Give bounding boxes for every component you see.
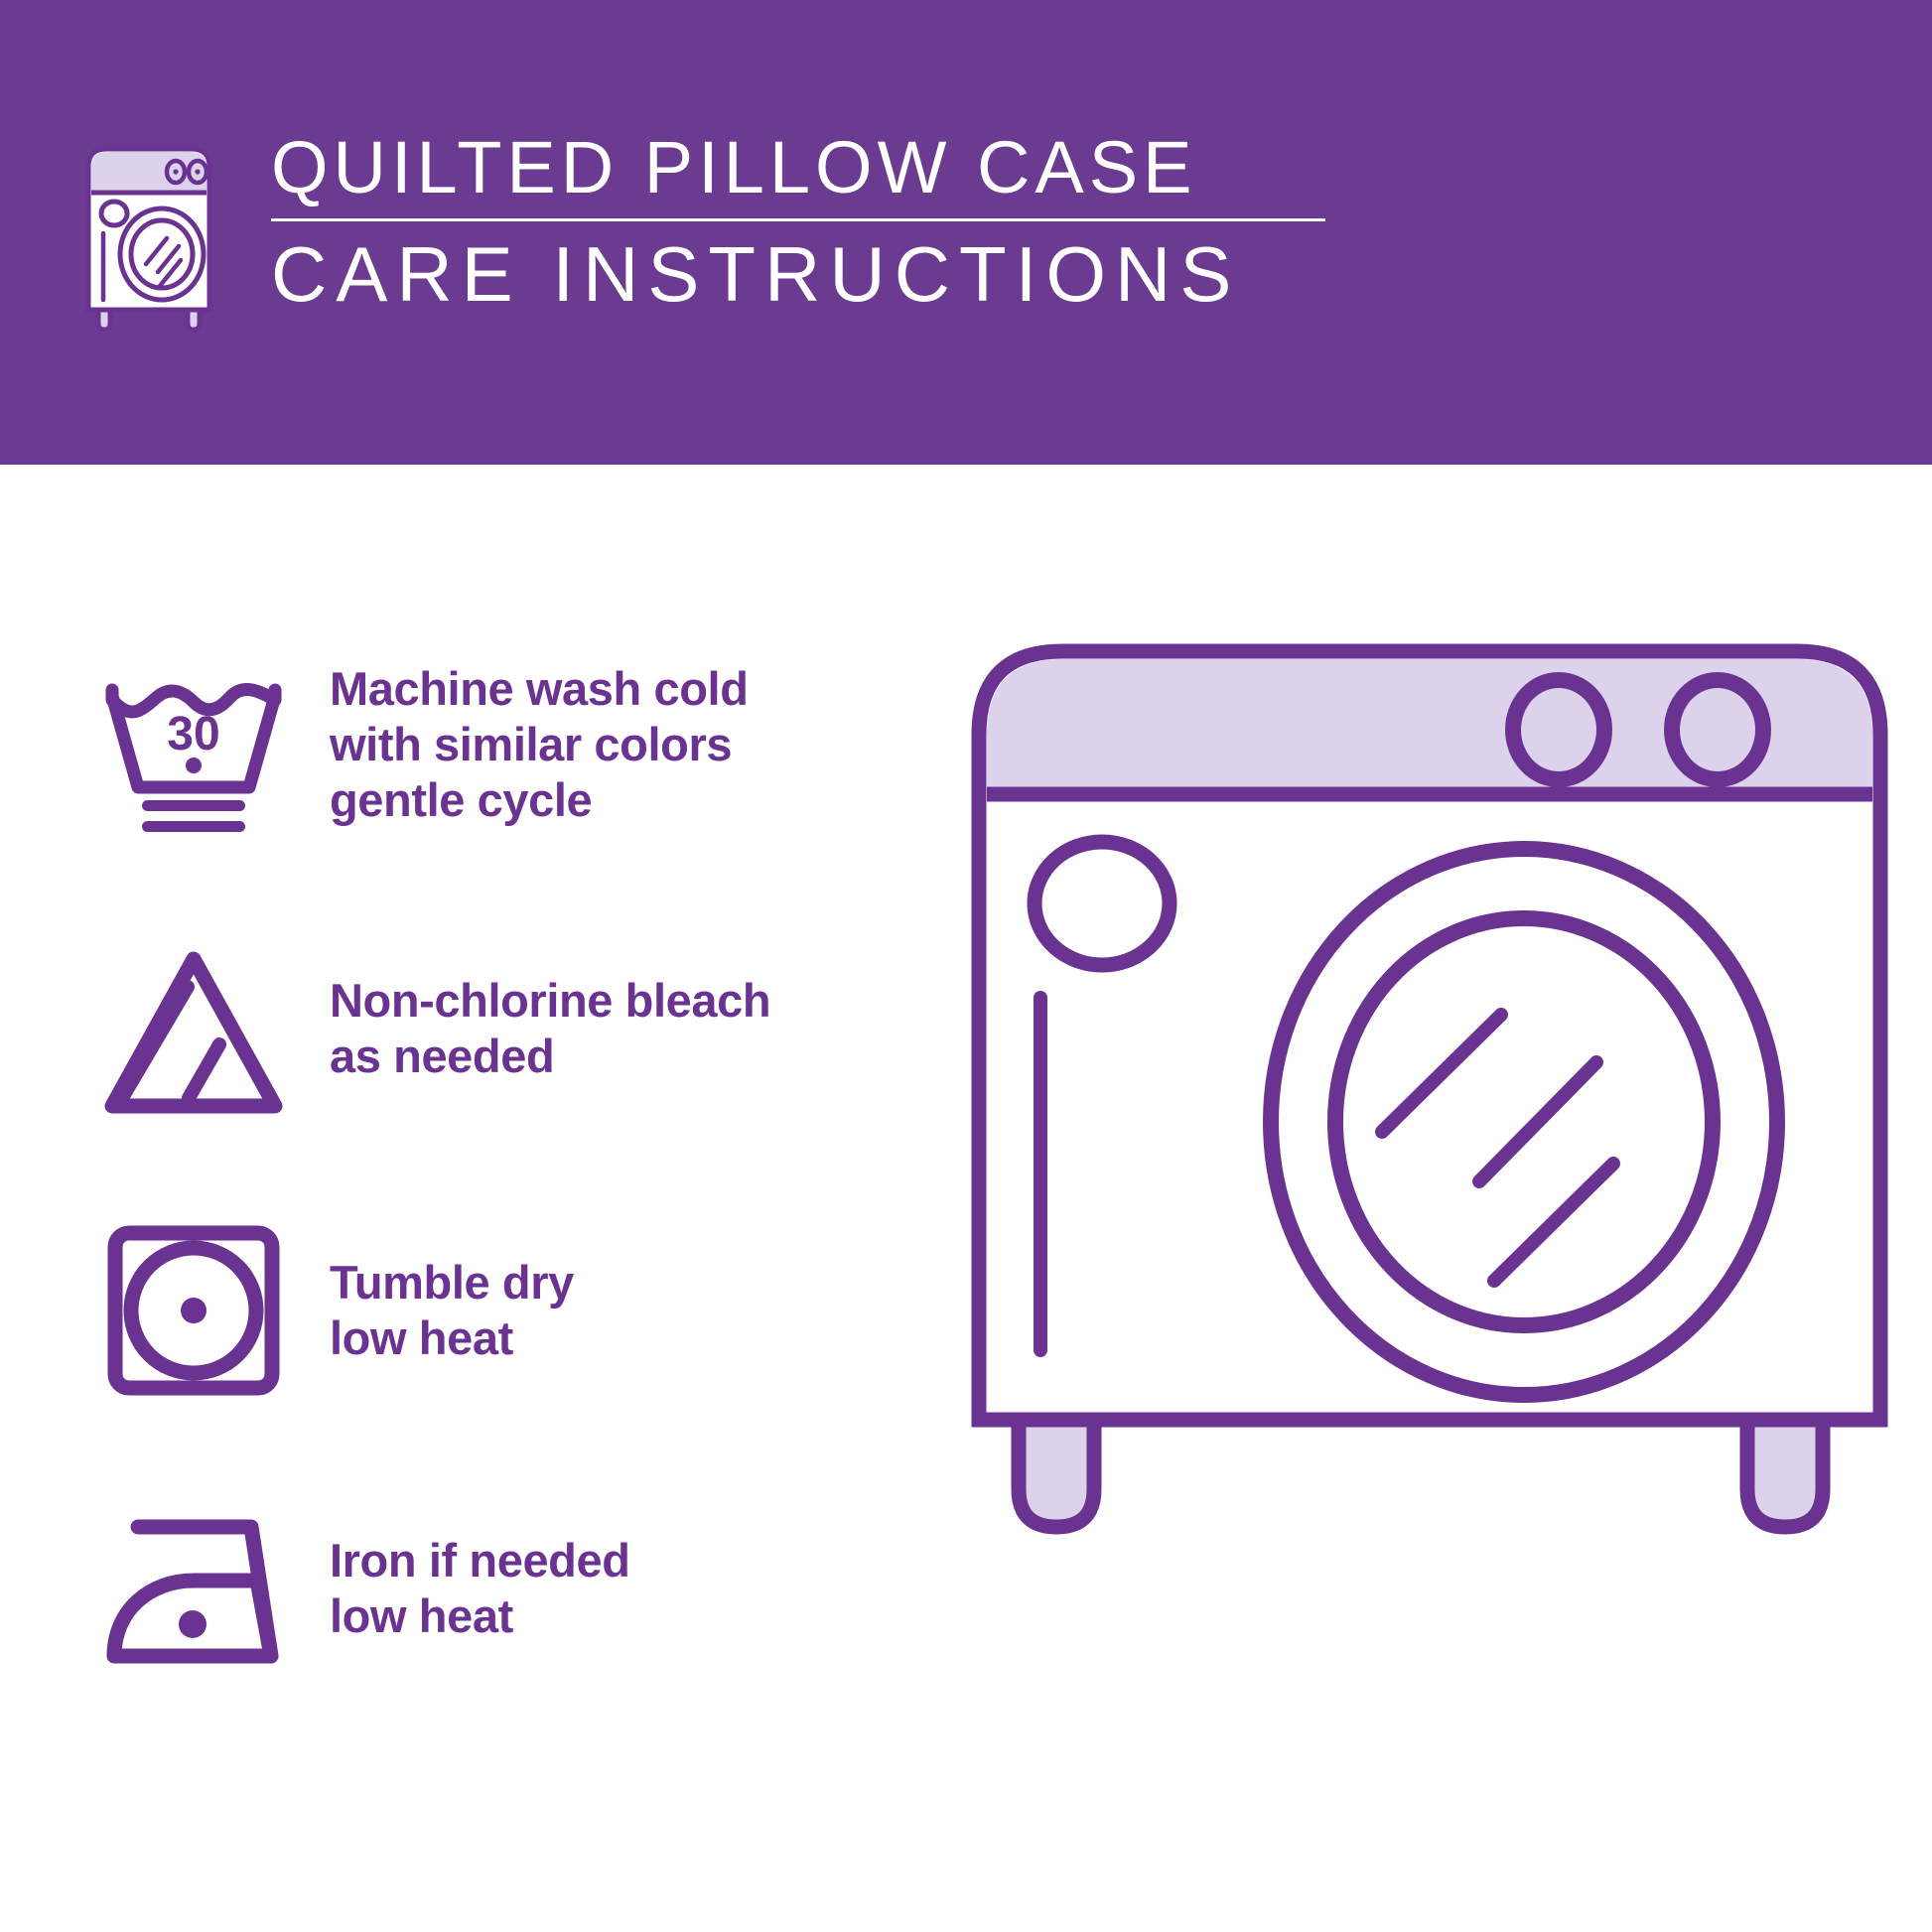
knob-right xyxy=(1672,680,1763,779)
iron-low-heat-icon xyxy=(79,1489,308,1688)
non-chlorine-bleach-icon xyxy=(79,933,308,1132)
list-item-label: Tumble dry low heat xyxy=(330,1211,933,1366)
care-instructions-page: QUILTED PILLOW CASE CARE INSTRUCTIONS 30 xyxy=(0,0,1932,1932)
wash-temp-label: 30 xyxy=(167,708,219,760)
machine-wash-30-gentle-icon: 30 xyxy=(79,655,308,854)
list-item: Iron if needed low heat xyxy=(79,1489,933,1767)
title-divider xyxy=(271,218,1325,221)
knob-left xyxy=(1513,680,1604,779)
header-band: QUILTED PILLOW CASE CARE INSTRUCTIONS xyxy=(0,0,1932,465)
page-title: QUILTED PILLOW CASE xyxy=(271,127,1325,208)
page-subtitle: CARE INSTRUCTIONS xyxy=(271,231,1325,317)
list-item: Non-chlorine bleach as needed xyxy=(79,933,933,1211)
leg-right xyxy=(1747,1420,1823,1527)
list-item-label: Machine wash cold with similar colors ge… xyxy=(330,655,933,828)
front-load-washing-machine-illustration xyxy=(953,616,1906,1906)
leg-left xyxy=(1019,1420,1094,1527)
list-item-label: Iron if needed low heat xyxy=(330,1489,933,1644)
list-item: 30 Machine wash cold with similar colors… xyxy=(79,655,933,933)
tumble-dry-low-icon xyxy=(79,1211,308,1410)
care-instruction-list: 30 Machine wash cold with similar colors… xyxy=(79,655,933,1767)
list-item-label: Non-chlorine bleach as needed xyxy=(330,933,933,1084)
header-titles: QUILTED PILLOW CASE CARE INSTRUCTIONS xyxy=(271,127,1325,317)
washing-machine-icon xyxy=(74,135,223,334)
header-content: QUILTED PILLOW CASE CARE INSTRUCTIONS xyxy=(74,127,1325,341)
list-item: Tumble dry low heat xyxy=(79,1211,933,1489)
detergent-cap xyxy=(1035,842,1170,965)
